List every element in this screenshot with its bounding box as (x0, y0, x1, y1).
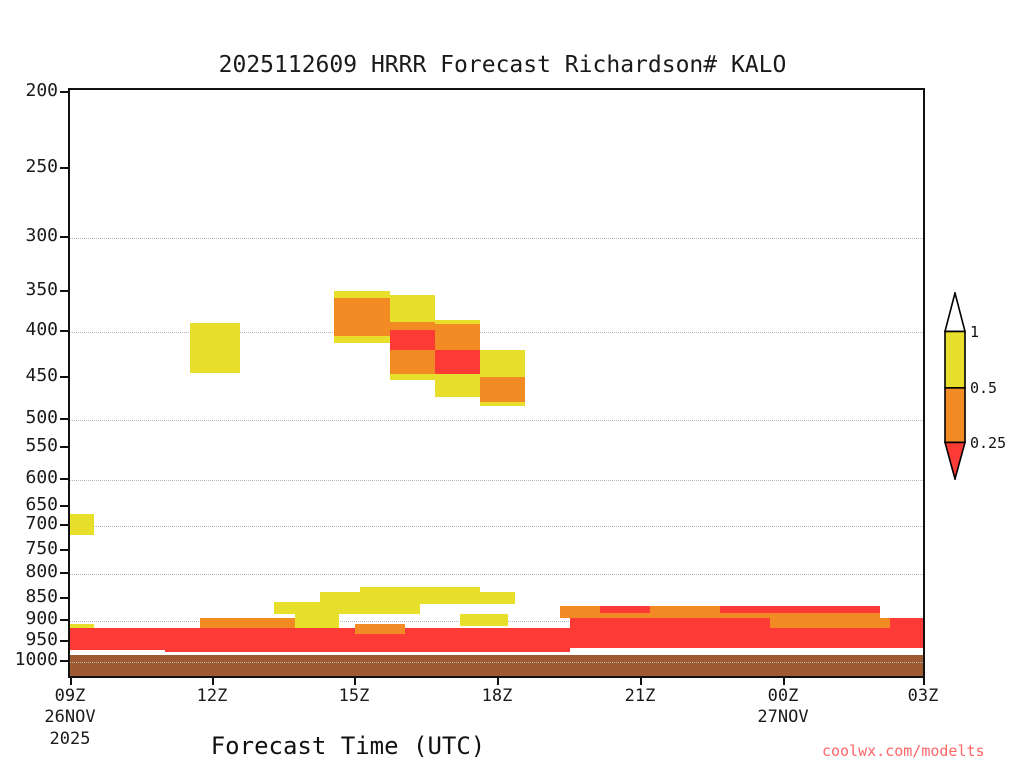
colorbar-label-0-25: 0.25 (970, 434, 1006, 452)
colorbar-arrow-bottom (945, 442, 965, 479)
heatmap-cell-cluster-16z-orange-bot (390, 350, 435, 374)
y-tick-mark-500 (60, 418, 68, 420)
x-tick-mark-12Z (212, 678, 214, 685)
colorbar-label-0-5: 0.5 (970, 379, 997, 397)
plot-area (68, 88, 925, 678)
heatmap-cell-cluster-18z-yellow-bot (480, 402, 525, 406)
colorbar-segment-yellow (945, 331, 965, 387)
y-tick-mark-700 (60, 524, 68, 526)
x-tick-date: 26NOV (44, 707, 95, 728)
y-tick-mark-450 (60, 376, 68, 378)
y-axis-labels: 2002503003504004505005506006507007508008… (0, 0, 58, 768)
y-tick-mark-650 (60, 505, 68, 507)
heatmap-cell-cluster-15z-orange (334, 298, 390, 336)
colorbar-arrow-top (945, 293, 965, 331)
colorbar-segment-orange (945, 388, 965, 443)
y-tick-label-700: 700 (25, 515, 58, 533)
heatmap-cell-cluster-15z-top-yellow (334, 291, 390, 298)
x-tick-label-12Z: 12Z (197, 686, 228, 707)
heatmap-cell-cluster-18z-orange (480, 377, 525, 402)
y-tick-label-300: 300 (25, 227, 58, 245)
y-tick-label-1000: 1000 (15, 651, 58, 669)
y-tick-mark-900 (60, 619, 68, 621)
heatmap-cell-surface-yellow-13z (295, 614, 339, 628)
gridline-500 (70, 420, 923, 422)
heatmap-cell-upper-yellow-12z (190, 323, 240, 373)
x-tick-mark-00Z (783, 678, 785, 685)
y-tick-label-350: 350 (25, 281, 58, 299)
y-tick-label-600: 600 (25, 469, 58, 487)
x-tick-mark-03Z (923, 678, 925, 685)
chart-root: 2025112609 HRRR Forecast Richardson# KAL… (0, 0, 1024, 768)
x-tick-time: 00Z (757, 686, 808, 707)
x-axis-title: Forecast Time (UTC) (68, 732, 628, 760)
x-tick-label-15Z: 15Z (339, 686, 370, 707)
heatmap-cell-surface-red-00z (720, 606, 880, 613)
heatmap-cell-cluster-18z-yellow (480, 350, 525, 377)
y-tick-label-800: 800 (25, 563, 58, 581)
x-tick-mark-21Z (640, 678, 642, 685)
gridline-600 (70, 480, 923, 482)
heatmap-cell-cluster-16z-red (390, 330, 435, 350)
plot-inner (70, 90, 923, 676)
colorbar-graphic (944, 292, 966, 480)
x-tick-time: 12Z (197, 686, 228, 707)
y-tick-mark-400 (60, 330, 68, 332)
heatmap-cell-cluster-16z-orange-top (390, 322, 435, 330)
x-tick-time: 03Z (908, 686, 939, 707)
y-tick-label-750: 750 (25, 540, 58, 558)
gridline-300 (70, 238, 923, 240)
y-tick-label-850: 850 (25, 588, 58, 606)
y-tick-label-950: 950 (25, 631, 58, 649)
heatmap-cell-cluster-17z-yellow-bot (435, 374, 480, 397)
gridline-1000-overlay (70, 662, 923, 664)
heatmap-cell-low-yellow-09z (70, 514, 94, 535)
x-tick-time: 21Z (625, 686, 656, 707)
y-tick-label-650: 650 (25, 496, 58, 514)
y-tick-mark-350 (60, 290, 68, 292)
x-tick-mark-18Z (497, 678, 499, 685)
heatmap-cell-cluster-16z-yellow-bot (390, 374, 435, 380)
y-tick-label-550: 550 (25, 437, 58, 455)
x-tick-time: 09Z (44, 686, 95, 707)
y-tick-label-900: 900 (25, 610, 58, 628)
heatmap-cell-surface-orange-17z (355, 624, 405, 634)
y-tick-mark-550 (60, 446, 68, 448)
colorbar-label-1: 1 (970, 323, 979, 341)
gridline-800 (70, 574, 923, 576)
watermark: coolwx.com/modelts (822, 742, 985, 760)
y-tick-mark-850 (60, 597, 68, 599)
y-tick-label-400: 400 (25, 321, 58, 339)
heatmap-cell-upper-yellow-band-18z (420, 592, 515, 604)
heatmap-cell-cluster-16z-yellow (390, 295, 435, 322)
x-tick-date: 27NOV (757, 707, 808, 728)
heatmap-cell-surface-red-21z (600, 606, 650, 613)
y-tick-mark-200 (60, 91, 68, 93)
y-tick-label-500: 500 (25, 409, 58, 427)
heatmap-cell-surface-yellow-19z (460, 614, 508, 626)
x-tick-time: 18Z (482, 686, 513, 707)
heatmap-cell-cluster-15z-bottom-yellow (334, 336, 390, 343)
heatmap-cell-surface-orange-12z (200, 618, 295, 628)
gridline-700 (70, 526, 923, 528)
y-tick-mark-750 (60, 549, 68, 551)
heatmap-cell-cluster-17z-orange (435, 324, 480, 350)
y-tick-label-250: 250 (25, 158, 58, 176)
heatmap-cell-surface-orange-02z (770, 618, 890, 628)
y-tick-label-450: 450 (25, 367, 58, 385)
x-tick-label-00Z: 00Z27NOV (757, 686, 808, 729)
heatmap-cell-brown-ground (70, 655, 925, 678)
x-tick-label-18Z: 18Z (482, 686, 513, 707)
y-tick-mark-300 (60, 236, 68, 238)
x-tick-mark-15Z (354, 678, 356, 685)
y-tick-mark-950 (60, 640, 68, 642)
ground-separator-2 (70, 650, 165, 653)
y-tick-mark-1000 (60, 660, 68, 662)
y-tick-label-200: 200 (25, 82, 58, 100)
ground-separator-1 (570, 648, 925, 652)
y-tick-mark-250 (60, 167, 68, 169)
y-tick-mark-600 (60, 478, 68, 480)
x-tick-label-21Z: 21Z (625, 686, 656, 707)
x-tick-mark-09Z (70, 678, 72, 685)
colorbar-legend: 10.50.25 (944, 292, 966, 480)
page-title: 2025112609 HRRR Forecast Richardson# KAL… (0, 52, 1005, 78)
x-tick-time: 15Z (339, 686, 370, 707)
heatmap-cell-cluster-17z-red (435, 350, 480, 374)
x-tick-label-03Z: 03Z (908, 686, 939, 707)
y-tick-mark-800 (60, 572, 68, 574)
